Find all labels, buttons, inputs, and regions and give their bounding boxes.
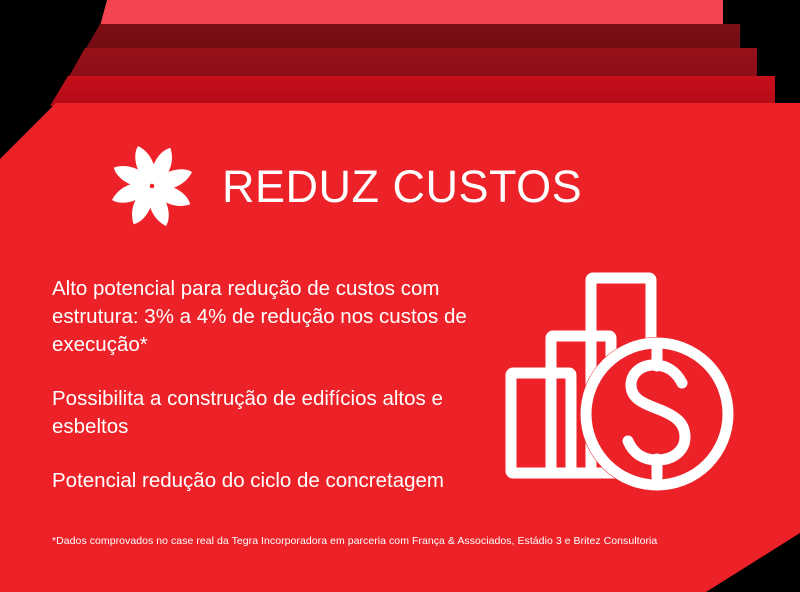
benefit-item-1: Alto potencial para redução de custos co…	[52, 275, 472, 359]
decorative-layer-deep-red	[0, 76, 800, 106]
benefit-item-3: Potencial redução do ciclo de concretage…	[52, 467, 472, 495]
slide-canvas: REDUZ CUSTOS Alto potencial para redução…	[0, 0, 800, 592]
benefits-list: Alto potencial para redução de custos co…	[52, 275, 472, 495]
content-card: REDUZ CUSTOS Alto potencial para redução…	[0, 103, 800, 592]
footnote-text: *Dados comprovados no case real da Tegra…	[52, 535, 657, 547]
decorative-layer-coral	[0, 0, 800, 26]
decorative-layer-maroon	[0, 48, 800, 78]
decorative-layer-dark-maroon	[0, 24, 800, 50]
bar-1	[511, 373, 571, 473]
pinwheel-petals-logo-icon	[100, 136, 204, 236]
page-title: REDUZ CUSTOS	[222, 164, 582, 209]
card-header: REDUZ CUSTOS	[100, 136, 582, 236]
benefit-item-2: Possibilita a construção de edifícios al…	[52, 385, 472, 441]
bar-chart-with-dollar-coin-icon	[505, 256, 750, 506]
